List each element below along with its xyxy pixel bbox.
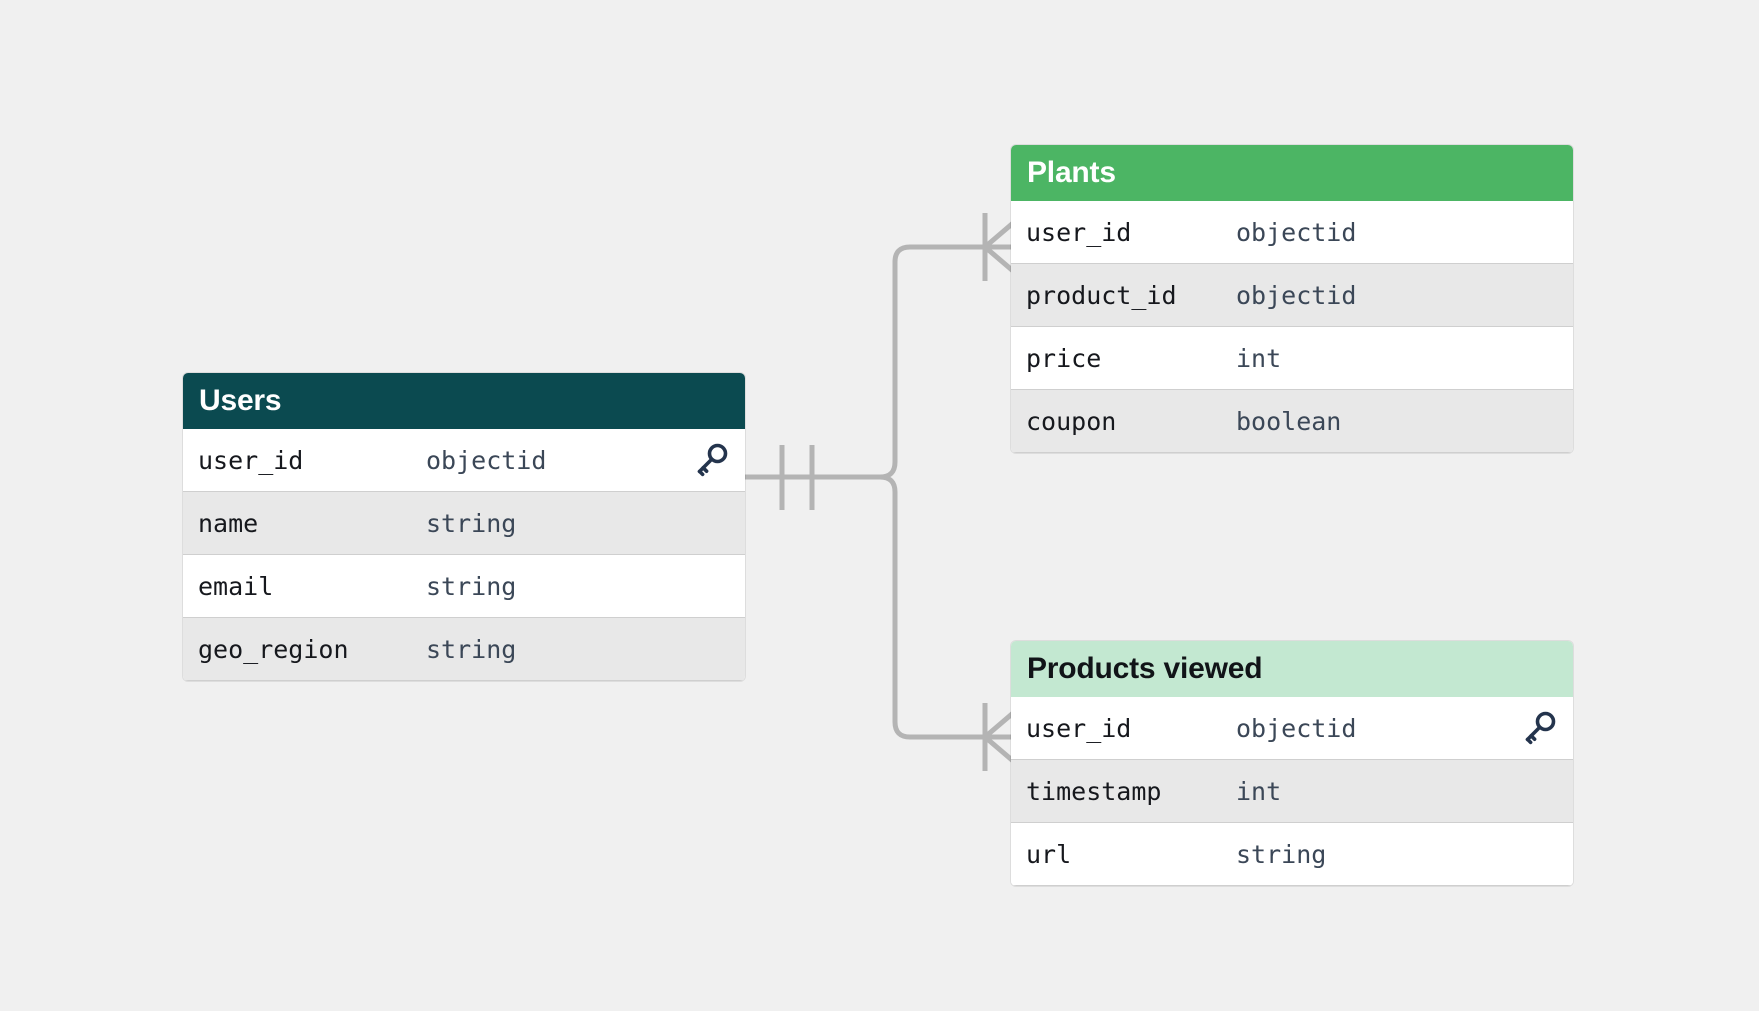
- field-name: name: [198, 509, 426, 538]
- field-name: user_id: [198, 446, 426, 475]
- field-type: string: [1236, 840, 1326, 869]
- field-type: objectid: [1236, 218, 1356, 247]
- field-row[interactable]: user_id objectid: [1011, 697, 1573, 760]
- field-type: string: [426, 509, 516, 538]
- field-row[interactable]: geo_region string: [183, 618, 745, 681]
- cardinality-users-one-and-only-one: [782, 445, 812, 510]
- field-type: objectid: [426, 446, 546, 475]
- field-name: geo_region: [198, 635, 426, 664]
- field-row[interactable]: name string: [183, 492, 745, 555]
- connector-users-plants-line: [880, 247, 985, 477]
- entity-products-viewed-title: Products viewed: [1027, 652, 1262, 686]
- field-row[interactable]: coupon boolean: [1011, 390, 1573, 453]
- entity-users-title: Users: [199, 384, 281, 418]
- field-row[interactable]: user_id objectid: [1011, 201, 1573, 264]
- entity-plants-title: Plants: [1027, 156, 1116, 190]
- entity-plants-header[interactable]: Plants: [1011, 145, 1573, 201]
- entity-users[interactable]: Users user_id objectid: [183, 373, 745, 681]
- field-type: boolean: [1236, 407, 1341, 436]
- key-icon: [691, 440, 731, 480]
- entity-products-viewed-header[interactable]: Products viewed: [1011, 641, 1573, 697]
- field-name: user_id: [1026, 714, 1236, 743]
- field-type: objectid: [1236, 281, 1356, 310]
- field-row[interactable]: email string: [183, 555, 745, 618]
- field-name: price: [1026, 344, 1236, 373]
- field-type: string: [426, 572, 516, 601]
- field-name: user_id: [1026, 218, 1236, 247]
- field-row[interactable]: user_id objectid: [183, 429, 745, 492]
- field-type: int: [1236, 344, 1281, 373]
- field-name: url: [1026, 840, 1236, 869]
- entity-users-header[interactable]: Users: [183, 373, 745, 429]
- field-type: objectid: [1236, 714, 1356, 743]
- field-row[interactable]: product_id objectid: [1011, 264, 1573, 327]
- field-name: email: [198, 572, 426, 601]
- field-row[interactable]: price int: [1011, 327, 1573, 390]
- field-type: int: [1236, 777, 1281, 806]
- entity-plants-fields: user_id objectid product_id objectid pri…: [1011, 201, 1573, 453]
- field-name: coupon: [1026, 407, 1236, 436]
- entity-users-fields: user_id objectid name string: [183, 429, 745, 681]
- diagram-canvas: Users user_id objectid: [0, 0, 1759, 1011]
- connector-users-products-line: [880, 477, 985, 737]
- field-row[interactable]: timestamp int: [1011, 760, 1573, 823]
- field-row[interactable]: url string: [1011, 823, 1573, 886]
- field-name: product_id: [1026, 281, 1236, 310]
- entity-products-viewed-fields: user_id objectid timestamp int: [1011, 697, 1573, 886]
- entity-products-viewed[interactable]: Products viewed user_id objectid: [1011, 641, 1573, 886]
- field-name: timestamp: [1026, 777, 1236, 806]
- key-icon: [1519, 708, 1559, 748]
- entity-plants[interactable]: Plants user_id objectid product_id objec…: [1011, 145, 1573, 453]
- field-type: string: [426, 635, 516, 664]
